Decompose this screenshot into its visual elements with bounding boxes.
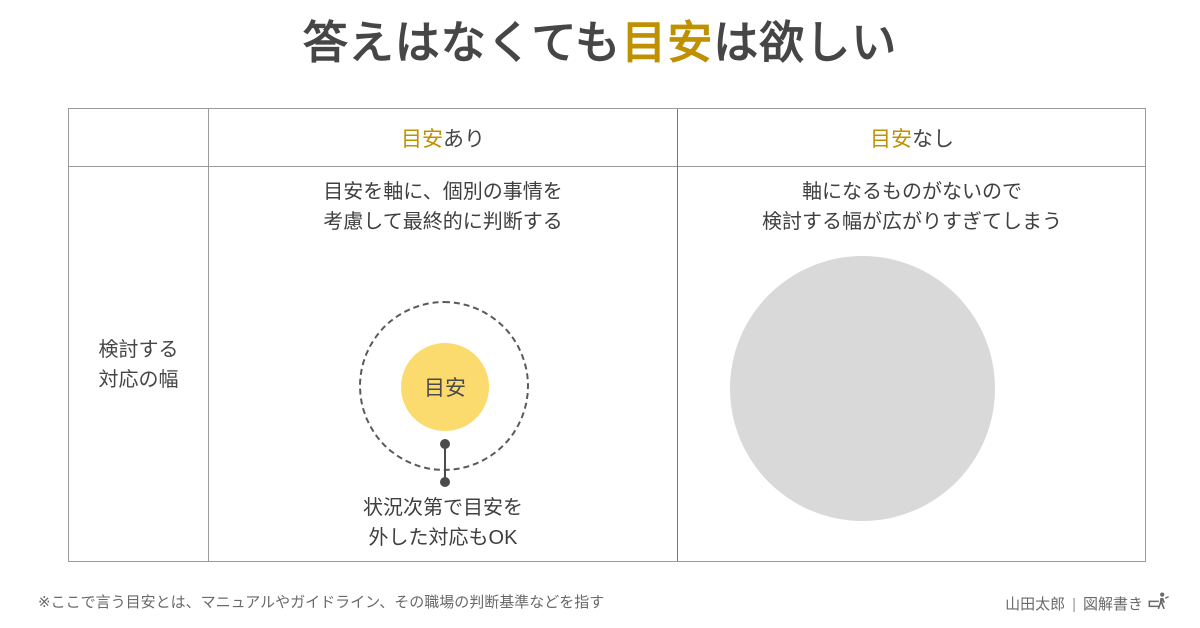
table-header-with-guideline: 目安あり (209, 109, 677, 167)
person-at-desk-icon (1148, 592, 1170, 617)
range-tick-marker (438, 439, 452, 495)
table-header-with-guideline-accent: 目安 (401, 123, 443, 153)
guideline-diagram: 目安 状況次第で目安を外した対応もOK (209, 168, 677, 562)
table-header-corner (69, 109, 208, 167)
credit-separator: | (1072, 594, 1076, 616)
no-guideline-diagram (678, 168, 1146, 562)
credit-author: 山田太郎 (1005, 594, 1065, 616)
page-title-prefix: 答えはなくても (303, 17, 621, 68)
page-title-suffix: は欲しい (713, 17, 897, 68)
tick-dot-top (440, 439, 450, 449)
page-title: 答えはなくても目安は欲しい (0, 14, 1200, 72)
comparison-table: 目安あり 目安なし 検討する対応の幅 目安を軸に、個別の事情を考慮して最終的に判… (68, 108, 1146, 562)
page-title-accent: 目安 (621, 17, 713, 68)
credit-role: 図解書き (1083, 594, 1143, 616)
row-label-scope-of-response: 検討する対応の幅 (69, 168, 208, 562)
core-guideline-circle: 目安 (401, 343, 489, 431)
tick-dot-bottom (440, 477, 450, 487)
footnote: ※ここで言う目安とは、マニュアルやガイドライン、その職場の判断基準などを指す (38, 592, 604, 614)
diagram-caption-with-guideline: 状況次第で目安を外した対応もOK (209, 493, 677, 553)
table-cell-with-guideline: 目安を軸に、個別の事情を考慮して最終的に判断する 目安 状況次第で目安を外した対… (209, 168, 677, 562)
wide-scope-circle (730, 256, 995, 521)
table-header-without-guideline-accent: 目安 (870, 123, 912, 153)
table-header-without-guideline-rest: なし (912, 123, 954, 153)
table-header-with-guideline-rest: あり (443, 123, 485, 153)
credit-line: 山田太郎 | 図解書き (1005, 592, 1170, 617)
table-header-without-guideline: 目安なし (678, 109, 1146, 167)
table-cell-without-guideline: 軸になるものがないので検討する幅が広がりすぎてしまう (678, 168, 1146, 562)
